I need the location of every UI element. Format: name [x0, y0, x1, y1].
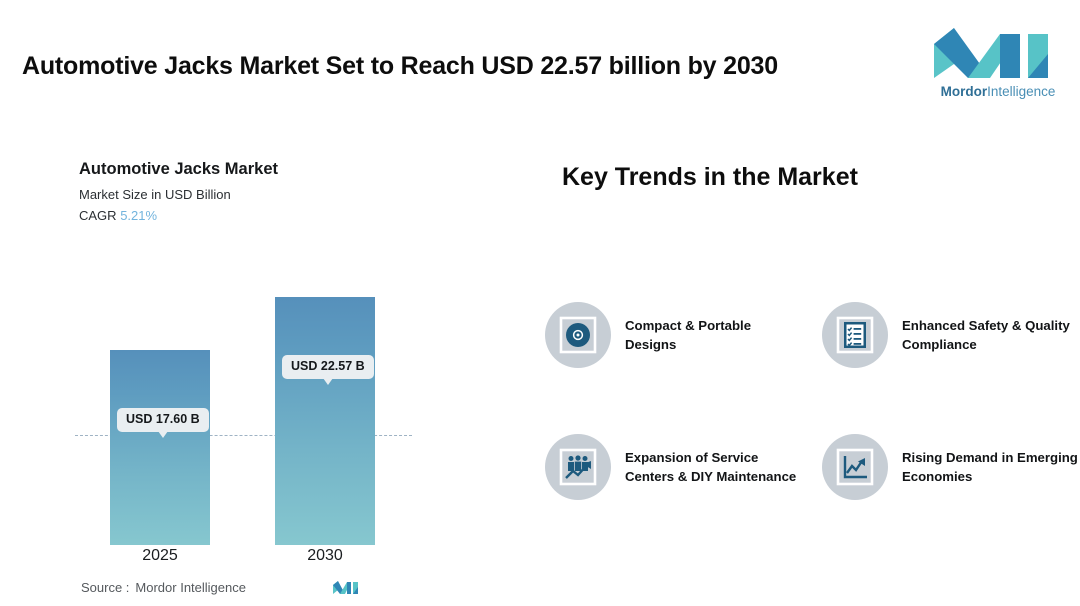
trend-label: Expansion of Service Centers & DIY Maint…	[625, 434, 805, 486]
bar-value-label-2025: USD 17.60 B	[117, 408, 209, 432]
cagr-label: CAGR	[79, 208, 117, 223]
trend-item-compact-portable-designs: Compact & Portable Designs	[545, 302, 811, 368]
bar-value-label-2030: USD 22.57 B	[282, 355, 374, 379]
trend-label: Rising Demand in Emerging Economies	[902, 434, 1080, 486]
trend-item-enhanced-safety-quality-compliance: Enhanced Safety & Quality Compliance	[822, 302, 1080, 368]
people-growth-chart-icon	[558, 447, 598, 487]
trend-label: Compact & Portable Designs	[625, 302, 805, 354]
bar-2030	[275, 297, 375, 545]
trend-icon-circle	[545, 302, 611, 368]
trend-item-expansion-service-centers-diy: Expansion of Service Centers & DIY Maint…	[545, 434, 811, 500]
brand-wordmark: MordorIntelligence	[928, 84, 1068, 99]
source-row: Source : Mordor Intelligence	[81, 580, 360, 595]
page-title: Automotive Jacks Market Set to Reach USD…	[22, 52, 778, 81]
cagr-value: 5.21%	[120, 208, 157, 223]
checklist-clipboard-icon	[835, 315, 875, 355]
chart-heading: Automotive Jacks Market	[79, 160, 278, 179]
trend-icon-circle	[545, 434, 611, 500]
bar-chart-plot: USD 17.60 B USD 22.57 B 2025 2030	[0, 245, 470, 545]
infographic-page: Automotive Jacks Market Set to Reach USD…	[0, 0, 1080, 606]
mordor-intelligence-mark-icon	[928, 24, 1068, 82]
chart-panel: Automotive Jacks Market Market Size in U…	[0, 150, 470, 606]
brand-word-bold: Mordor	[941, 84, 988, 99]
source-label: Source :	[81, 580, 129, 595]
brand-logo: MordorIntelligence	[928, 24, 1068, 106]
trend-icon-circle	[822, 434, 888, 500]
x-axis-label-2030: 2030	[275, 547, 375, 565]
bar-2025	[110, 350, 210, 545]
brand-word-light: Intelligence	[987, 84, 1055, 99]
trend-label: Enhanced Safety & Quality Compliance	[902, 302, 1080, 354]
source-value: Mordor Intelligence	[135, 580, 246, 595]
trend-icon-circle	[822, 302, 888, 368]
chart-subtitle: Market Size in USD Billion	[79, 187, 231, 202]
trend-item-rising-demand-emerging-economies: Rising Demand in Emerging Economies	[822, 434, 1080, 500]
trends-title: Key Trends in the Market	[562, 163, 858, 192]
trends-panel: Key Trends in the Market Compact & Porta…	[540, 150, 1080, 606]
chart-cagr: CAGR 5.21%	[79, 208, 157, 223]
source-brand-mark-icon	[332, 580, 360, 595]
disc-in-frame-icon	[558, 315, 598, 355]
rising-line-chart-icon	[835, 447, 875, 487]
x-axis-label-2025: 2025	[110, 547, 210, 565]
